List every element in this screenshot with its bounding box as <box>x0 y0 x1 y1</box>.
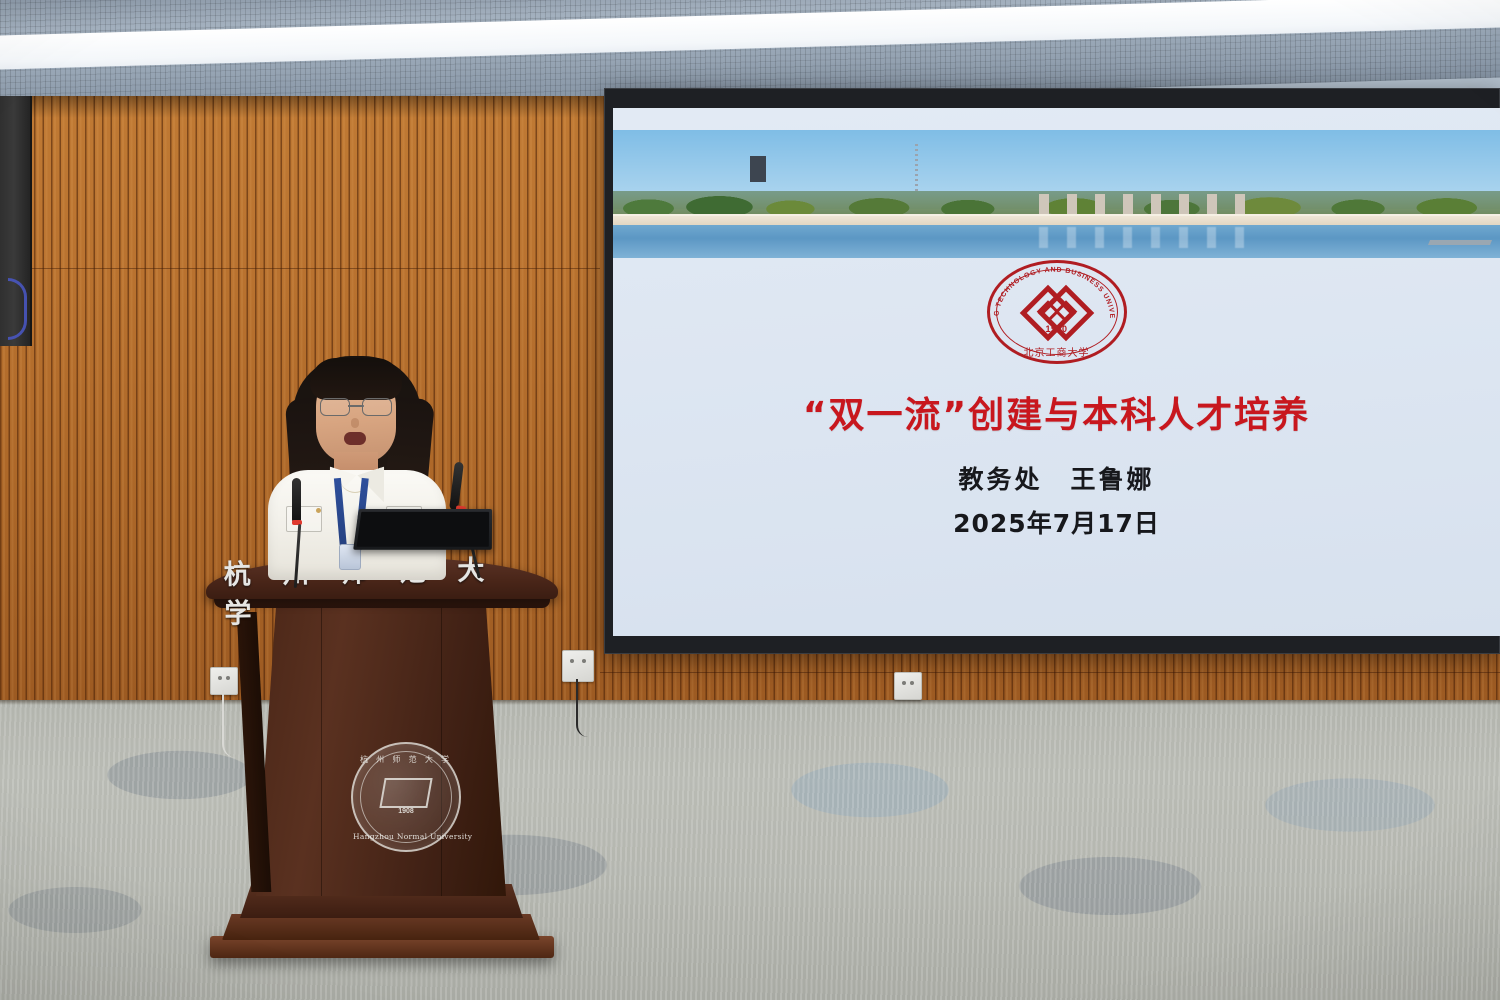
speaker-person <box>0 0 1500 1000</box>
glasses-lens-right <box>362 398 392 416</box>
shirt-button-upper <box>316 508 321 513</box>
podium-laptop[interactable] <box>353 509 492 550</box>
conference-hall-photo: BEIJING TECHNOLOGY AND BUSINESS UNIVERSI… <box>0 0 1500 1000</box>
speaker-glasses-icon <box>320 398 392 415</box>
speaker-hair-fringe <box>310 358 402 400</box>
laptop-screen <box>357 512 490 547</box>
speaker-mouth <box>344 432 366 445</box>
glasses-lens-left <box>320 398 350 416</box>
speaker-nose <box>351 418 359 428</box>
gooseneck-microphone-left-head[interactable] <box>292 478 301 524</box>
